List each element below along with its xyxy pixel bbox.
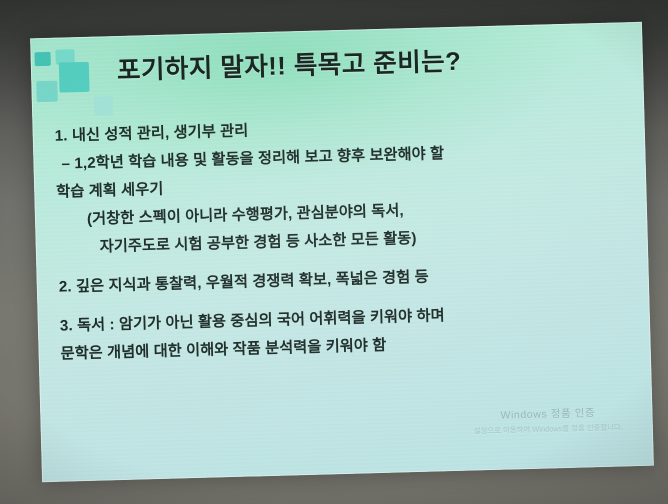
slide-canvas: 포기하지 말자!! 특목고 준비는? 1. 내신 성적 관리, 생기부 관리 –… bbox=[30, 22, 654, 482]
deco-square-5 bbox=[94, 96, 114, 116]
windows-activation-watermark: Windows 정품 인증 설정으로 이동하여 Windows를 정품 인증합니… bbox=[473, 404, 623, 436]
watermark-subtitle: 설정으로 이동하여 Windows를 정품 인증합니다. bbox=[474, 421, 623, 436]
slide-body: 1. 내신 성적 관리, 생기부 관리 – 1,2학년 학습 내용 및 활동을 … bbox=[54, 108, 632, 363]
watermark-title: Windows 정품 인증 bbox=[473, 404, 622, 423]
slide-title-row: 포기하지 말자!! 특목고 준비는? bbox=[30, 36, 643, 90]
page-title: 포기하지 말자!! 특목고 준비는? bbox=[116, 41, 461, 87]
projected-slide: 포기하지 말자!! 특목고 준비는? 1. 내신 성적 관리, 생기부 관리 –… bbox=[30, 22, 654, 482]
